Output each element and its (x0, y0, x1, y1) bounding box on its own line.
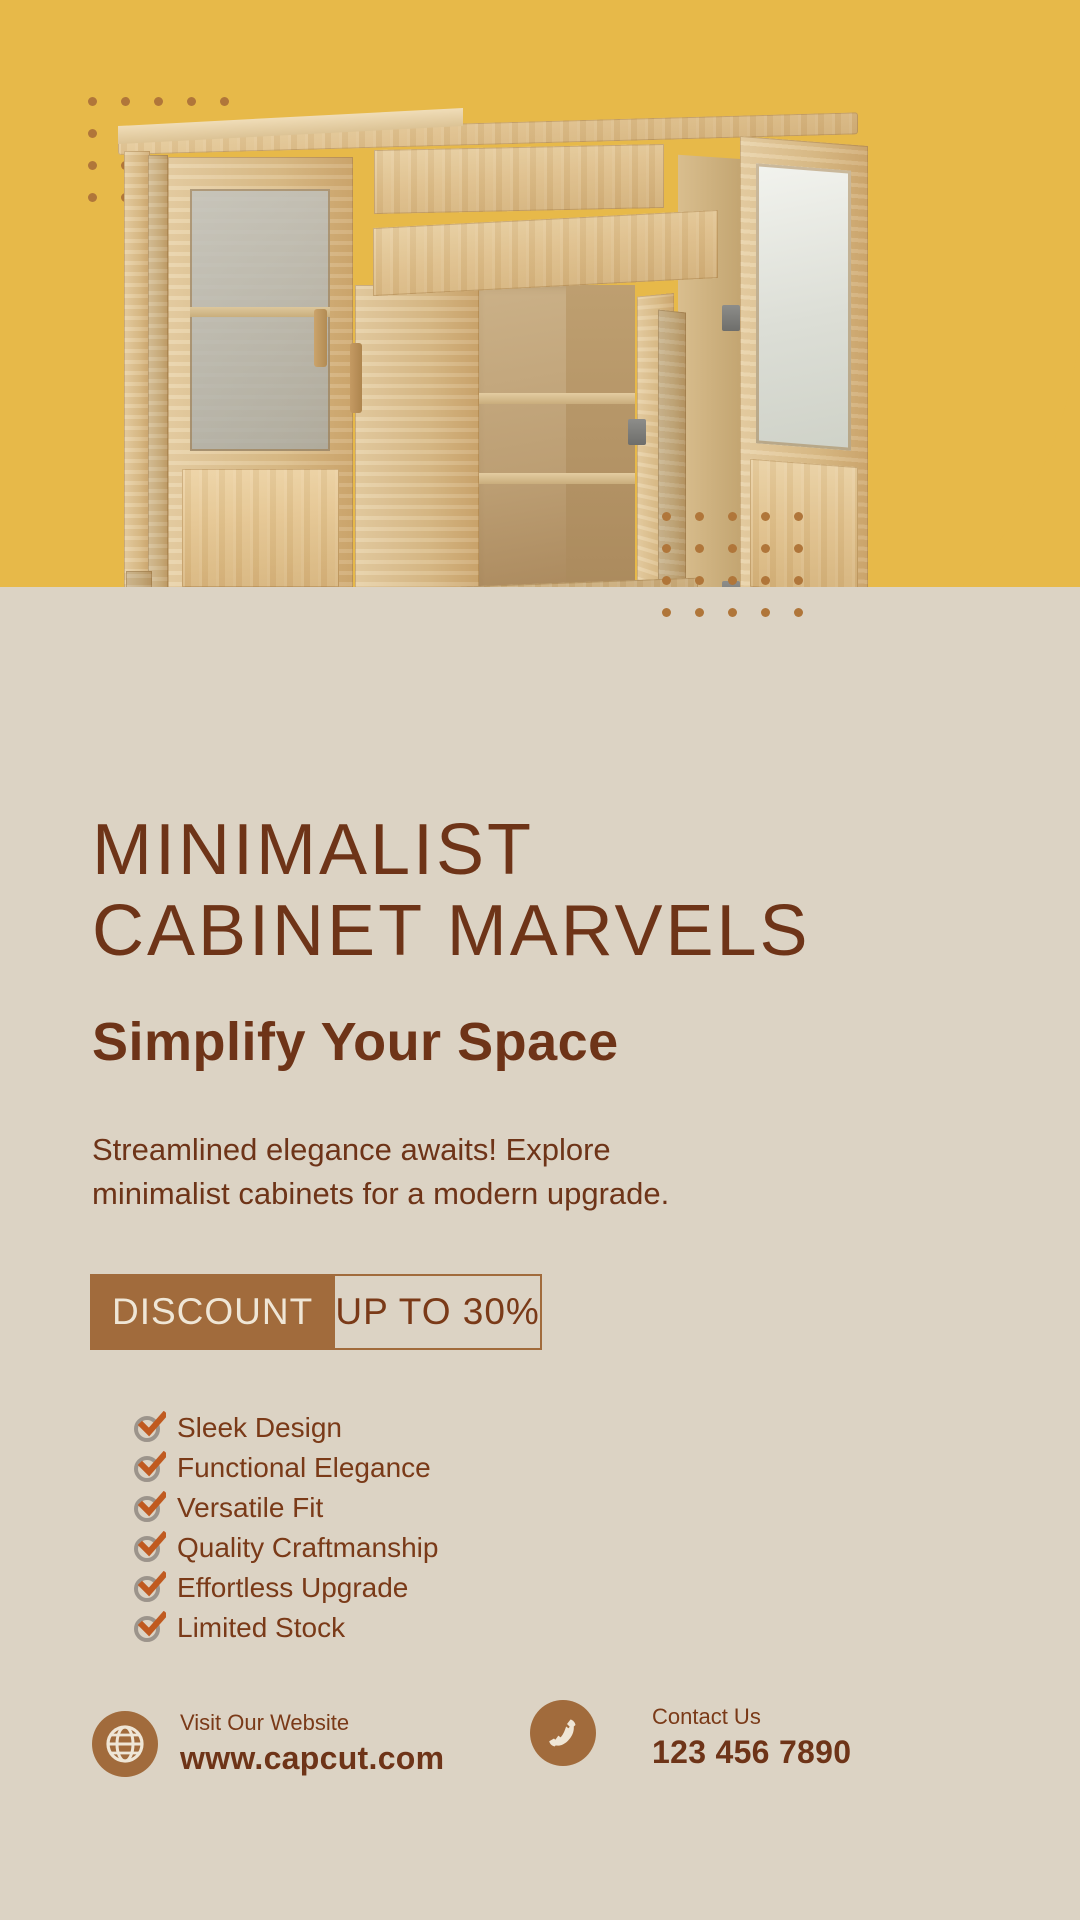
page-title-line-2: CABINET MARVELS (92, 891, 811, 971)
feature-label: Sleek Design (177, 1412, 342, 1444)
dot (154, 97, 163, 106)
middle-door-handle (350, 343, 362, 413)
glass-door-shelf (190, 307, 330, 317)
cabinet-left-inner-panel (148, 155, 168, 603)
content-section: MINIMALIST CABINET MARVELS Simplify Your… (0, 700, 1080, 1652)
dot (794, 576, 803, 585)
check-circle-icon (134, 1454, 163, 1483)
dot (761, 608, 770, 617)
discount-value: UP TO 30% (335, 1274, 542, 1350)
open-drawer-face (373, 210, 718, 296)
website-url[interactable]: www.capcut.com (180, 1740, 444, 1777)
list-item: Limited Stock (134, 1612, 1080, 1644)
page-title: MINIMALIST CABINET MARVELS (92, 810, 1080, 971)
dot (662, 512, 671, 521)
dot (761, 576, 770, 585)
dot (728, 544, 737, 553)
dot (220, 97, 229, 106)
check-circle-icon (134, 1414, 163, 1443)
cabinet-open-drawer (373, 210, 718, 296)
mirror-pane (756, 163, 851, 450)
hero-floor-band (0, 587, 1080, 700)
dot (662, 576, 671, 585)
cabinet-shelf (470, 393, 635, 404)
phone-caption: Contact Us (652, 1704, 851, 1730)
dot (761, 512, 770, 521)
feature-label: Limited Stock (177, 1612, 345, 1644)
dot (728, 512, 737, 521)
glass-door-lower-panel (182, 469, 339, 587)
feature-label: Effortless Upgrade (177, 1572, 408, 1604)
phone-icon (530, 1700, 596, 1766)
footer: Visit Our Website www.capcut.com Contact… (0, 1680, 1080, 1840)
glass-door-handle (314, 309, 327, 367)
feature-label: Versatile Fit (177, 1492, 323, 1524)
dot (662, 608, 671, 617)
hero-banner (0, 0, 1080, 700)
dot (695, 608, 704, 617)
dot (794, 512, 803, 521)
discount-label: DISCOUNT (90, 1274, 335, 1350)
cabinet-glass-door (168, 157, 353, 597)
glass-pane (190, 189, 330, 451)
cabinet-middle-door (355, 285, 479, 597)
list-item: Versatile Fit (134, 1492, 1080, 1524)
cabinet-interior-cavity (470, 285, 635, 597)
feature-label: Quality Craftmanship (177, 1532, 438, 1564)
cabinet-top-drawer (374, 144, 664, 214)
list-item: Functional Elegance (134, 1452, 1080, 1484)
subtitle: Simplify Your Space (92, 1011, 1080, 1073)
phone-number[interactable]: 123 456 7890 (652, 1734, 851, 1771)
globe-icon (92, 1711, 158, 1777)
dot (88, 97, 97, 106)
dot (88, 161, 97, 170)
door-hinge (722, 305, 740, 331)
door-hinge (628, 419, 646, 445)
check-circle-icon (134, 1574, 163, 1603)
dot (187, 97, 196, 106)
phone-contact-block[interactable]: Contact Us 123 456 7890 (652, 1704, 851, 1771)
cabinet-back-panel (566, 285, 635, 597)
dot (794, 544, 803, 553)
dot (695, 512, 704, 521)
cabinet-left-side-panel (124, 151, 150, 606)
discount-badge: DISCOUNT UP TO 30% (90, 1274, 542, 1350)
dot (695, 576, 704, 585)
dot (88, 193, 97, 202)
dot (728, 608, 737, 617)
list-item: Effortless Upgrade (134, 1572, 1080, 1604)
cabinet-shelf (470, 473, 635, 484)
feature-label: Functional Elegance (177, 1452, 431, 1484)
dot (728, 576, 737, 585)
description-text: Streamlined elegance awaits! Explore min… (92, 1128, 692, 1216)
feature-list: Sleek Design Functional Elegance Versati… (134, 1412, 1080, 1644)
dot-grid-bottom-decoration (662, 512, 827, 640)
dot (662, 544, 671, 553)
check-circle-icon (134, 1614, 163, 1643)
dot (794, 608, 803, 617)
website-contact-block[interactable]: Visit Our Website www.capcut.com (92, 1710, 444, 1777)
dot (88, 129, 97, 138)
page-title-line-1: MINIMALIST (92, 810, 534, 890)
check-circle-icon (134, 1494, 163, 1523)
dot (761, 544, 770, 553)
list-item: Quality Craftmanship (134, 1532, 1080, 1564)
check-circle-icon (134, 1534, 163, 1563)
dot (121, 97, 130, 106)
website-caption: Visit Our Website (180, 1710, 444, 1736)
dot (695, 544, 704, 553)
list-item: Sleek Design (134, 1412, 1080, 1444)
